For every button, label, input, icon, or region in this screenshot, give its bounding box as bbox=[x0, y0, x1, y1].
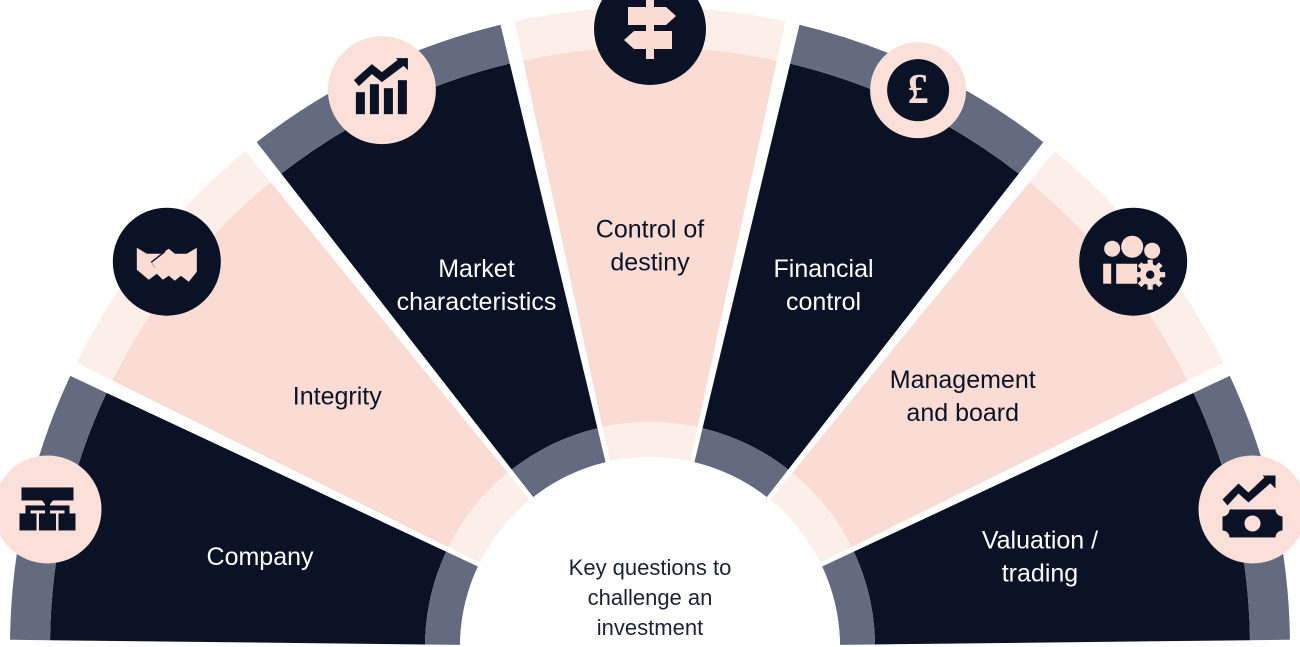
svg-text:£: £ bbox=[908, 67, 929, 113]
pound-sterling-icon[interactable]: £ bbox=[870, 42, 966, 138]
team-gear-icon[interactable] bbox=[1079, 208, 1187, 316]
segment-label-integrity: Integrity bbox=[293, 382, 382, 410]
segment-label-company: Company bbox=[207, 543, 314, 571]
key-questions-wheel-diagram: CompanyIntegrityMarketcharacteristicsCon… bbox=[0, 0, 1300, 647]
wheel-svg: CompanyIntegrityMarketcharacteristicsCon… bbox=[0, 0, 1300, 647]
bar-chart-growth-icon[interactable] bbox=[328, 36, 436, 144]
inner-ring-arc-control-of-destiny bbox=[602, 422, 697, 461]
handshake-icon[interactable] bbox=[113, 208, 221, 316]
